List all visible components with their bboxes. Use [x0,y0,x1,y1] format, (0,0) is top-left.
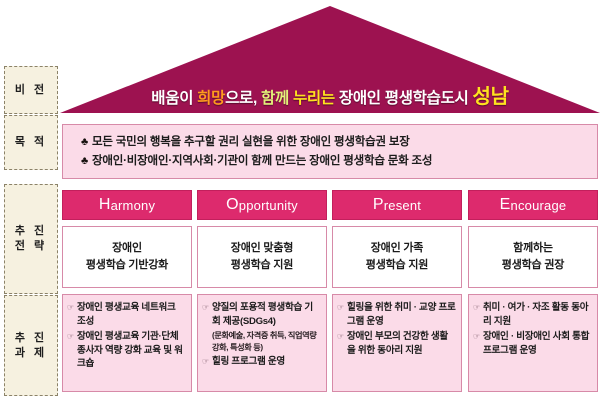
sidebar-item-vision[interactable]: 비 전 [4,66,58,114]
vision-banner: 배움이 희망으로, 함께 누리는 장애인 평생학습도시 성남 [62,76,598,112]
strategy-line-1: 장애인 [112,240,142,257]
task-text: 취미 · 여가 · 자조 활동 동아리 지원 [483,301,592,328]
task-item: ☞ 장애인 · 비장애인 사회 통합 프로그램 운영 [473,330,592,357]
strategy-line-1: 장애인 맞춤형 [231,240,293,257]
vision-part-7-seongnam: 성남 [473,86,509,108]
strategy-line-2: 평생학습 기반강화 [86,257,168,274]
column-harmony: Harmony 장애인 평생학습 기반강화 ☞ 장애인 평생교육 네트워크 조성… [62,190,192,396]
vision-part-3: 으로, [225,90,261,107]
pointing-hand-icon: ☞ [473,330,483,344]
sidebar-label-purpose: 목 적 [15,135,47,150]
strategy-header-cap: E [500,196,511,214]
strategy-body-present: 장애인 가족 평생학습 지원 [332,226,462,288]
strategy-body-harmony: 장애인 평생학습 기반강화 [62,226,192,288]
pointing-hand-icon: ☞ [337,301,347,315]
task-item: ☞ 장애인 부모의 건강한 생활을 위한 동아리 지원 [337,330,456,357]
column-present: Present 장애인 가족 평생학습 지원 ☞ 힐링을 위한 취미 · 교양 … [332,190,462,396]
strategy-body-encourage: 함께하는 평생학습 권장 [468,226,598,288]
task-item: ☞ 양질의 포용적 평생학습 기회 제공(SDGs4) [202,301,321,328]
task-text: 장애인 평생교육 네트워크 조성 [77,301,186,328]
task-text: 장애인 · 비장애인 사회 통합 프로그램 운영 [483,330,592,357]
strategy-line-2: 평생학습 지원 [231,257,293,274]
sidebar-label-vision: 비 전 [15,83,47,98]
task-text: 힐링을 위한 취미 · 교양 프로그램 운영 [347,301,456,328]
task-body-harmony: ☞ 장애인 평생교육 네트워크 조성 ☞ 장애인 평생교육 기관·단체 종사자 … [62,294,192,392]
purpose-line-1-text: 모든 국민의 행복을 추구할 권리 실현을 위한 장애인 평생학습권 보장 [92,136,410,148]
sidebar-item-purpose[interactable]: 목 적 [4,115,58,170]
sidebar-label-task-line1: 추 진 [15,331,47,346]
club-icon: ♣ [81,136,88,148]
task-text: 양질의 포용적 평생학습 기회 제공(SDGs4) [212,301,321,328]
task-body-present: ☞ 힐링을 위한 취미 · 교양 프로그램 운영 ☞ 장애인 부모의 건강한 생… [332,294,462,392]
vision-part-1: 배움이 [151,90,197,107]
pointing-hand-icon: ☞ [202,355,212,369]
task-note: (문화예술, 자격증 취득, 직업역량 강화, 특성화 등) [212,330,321,353]
purpose-box: ♣모든 국민의 행복을 추구할 권리 실현을 위한 장애인 평생학습권 보장 ♣… [62,124,598,179]
sidebar-label-strategy-line1: 추 진 [15,224,47,239]
strategy-header-rest: resent [384,198,421,213]
column-encourage: Encourage 함께하는 평생학습 권장 ☞ 취미 · 여가 · 자조 활동… [468,190,598,396]
purpose-line-1: ♣모든 국민의 행복을 추구할 권리 실현을 위한 장애인 평생학습권 보장 [81,133,597,152]
strategy-header-opportunity[interactable]: Opportunity [197,190,327,220]
sidebar: 비 전 목 적 추 진 전 략 추 진 과 제 [4,66,58,396]
strategy-header-present[interactable]: Present [332,190,462,220]
strategy-header-harmony[interactable]: Harmony [62,190,192,220]
strategy-header-cap: P [373,196,384,214]
strategy-columns: Harmony 장애인 평생학습 기반강화 ☞ 장애인 평생교육 네트워크 조성… [62,190,598,396]
strategy-body-opportunity: 장애인 맞춤형 평생학습 지원 [197,226,327,288]
vision-text: 배움이 희망으로, 함께 누리는 장애인 평생학습도시 성남 [151,80,508,109]
task-body-encourage: ☞ 취미 · 여가 · 자조 활동 동아리 지원 ☞ 장애인 · 비장애인 사회… [468,294,598,392]
strategy-line-2: 평생학습 권장 [502,257,564,274]
pointing-hand-icon: ☞ [67,301,77,315]
purpose-line-2: ♣장애인·비장애인·지역사회·기관이 함께 만드는 장애인 평생학습 문화 조성 [81,152,597,171]
sidebar-label-strategy-line2: 전 략 [15,239,47,254]
strategy-header-rest: ncourage [511,198,567,213]
sidebar-item-task[interactable]: 추 진 과 제 [4,295,58,396]
sidebar-label-task-line2: 과 제 [15,346,47,361]
pointing-hand-icon: ☞ [67,330,77,344]
strategy-header-rest: pportunity [239,198,298,213]
strategy-header-cap: H [99,196,111,214]
column-opportunity: Opportunity 장애인 맞춤형 평생학습 지원 ☞ 양질의 포용적 평생… [197,190,327,396]
strategy-line-1: 장애인 가족 [371,240,423,257]
vision-part-4: 함께 [261,90,293,107]
strategy-header-encourage[interactable]: Encourage [468,190,598,220]
sidebar-item-strategy[interactable]: 추 진 전 략 [4,184,58,294]
task-text: 장애인 부모의 건강한 생활을 위한 동아리 지원 [347,330,456,357]
strategy-header-cap: O [226,196,239,214]
vision-part-2-hope: 희망 [197,90,225,107]
task-item: ☞ 장애인 평생교육 기관·단체 종사자 역량 강화 교육 및 워크숍 [67,330,186,371]
task-body-opportunity: ☞ 양질의 포용적 평생학습 기회 제공(SDGs4) (문화예술, 자격증 취… [197,294,327,392]
pointing-hand-icon: ☞ [202,301,212,315]
task-item: ☞ 힐링을 위한 취미 · 교양 프로그램 운영 [337,301,456,328]
vision-part-5: 누리는 [293,90,339,107]
task-text: 힐링 프로그램 운영 [212,355,321,369]
task-item: ☞ 힐링 프로그램 운영 [202,355,321,369]
task-text: 장애인 평생교육 기관·단체 종사자 역량 강화 교육 및 워크숍 [77,330,186,371]
pointing-hand-icon: ☞ [337,330,347,344]
task-item: ☞ 취미 · 여가 · 자조 활동 동아리 지원 [473,301,592,328]
infographic-root: 비 전 목 적 추 진 전 략 추 진 과 제 배움이 희망으로, 함께 누리는… [0,0,600,400]
strategy-line-2: 평생학습 지원 [366,257,428,274]
task-item: ☞ 장애인 평생교육 네트워크 조성 [67,301,186,328]
club-icon: ♣ [81,155,88,167]
purpose-line-2-text: 장애인·비장애인·지역사회·기관이 함께 만드는 장애인 평생학습 문화 조성 [92,155,432,167]
strategy-line-1: 함께하는 [513,240,553,257]
vision-part-6: 장애인 평생학습도시 [339,90,473,107]
pointing-hand-icon: ☞ [473,301,483,315]
strategy-header-rest: armony [111,198,156,213]
